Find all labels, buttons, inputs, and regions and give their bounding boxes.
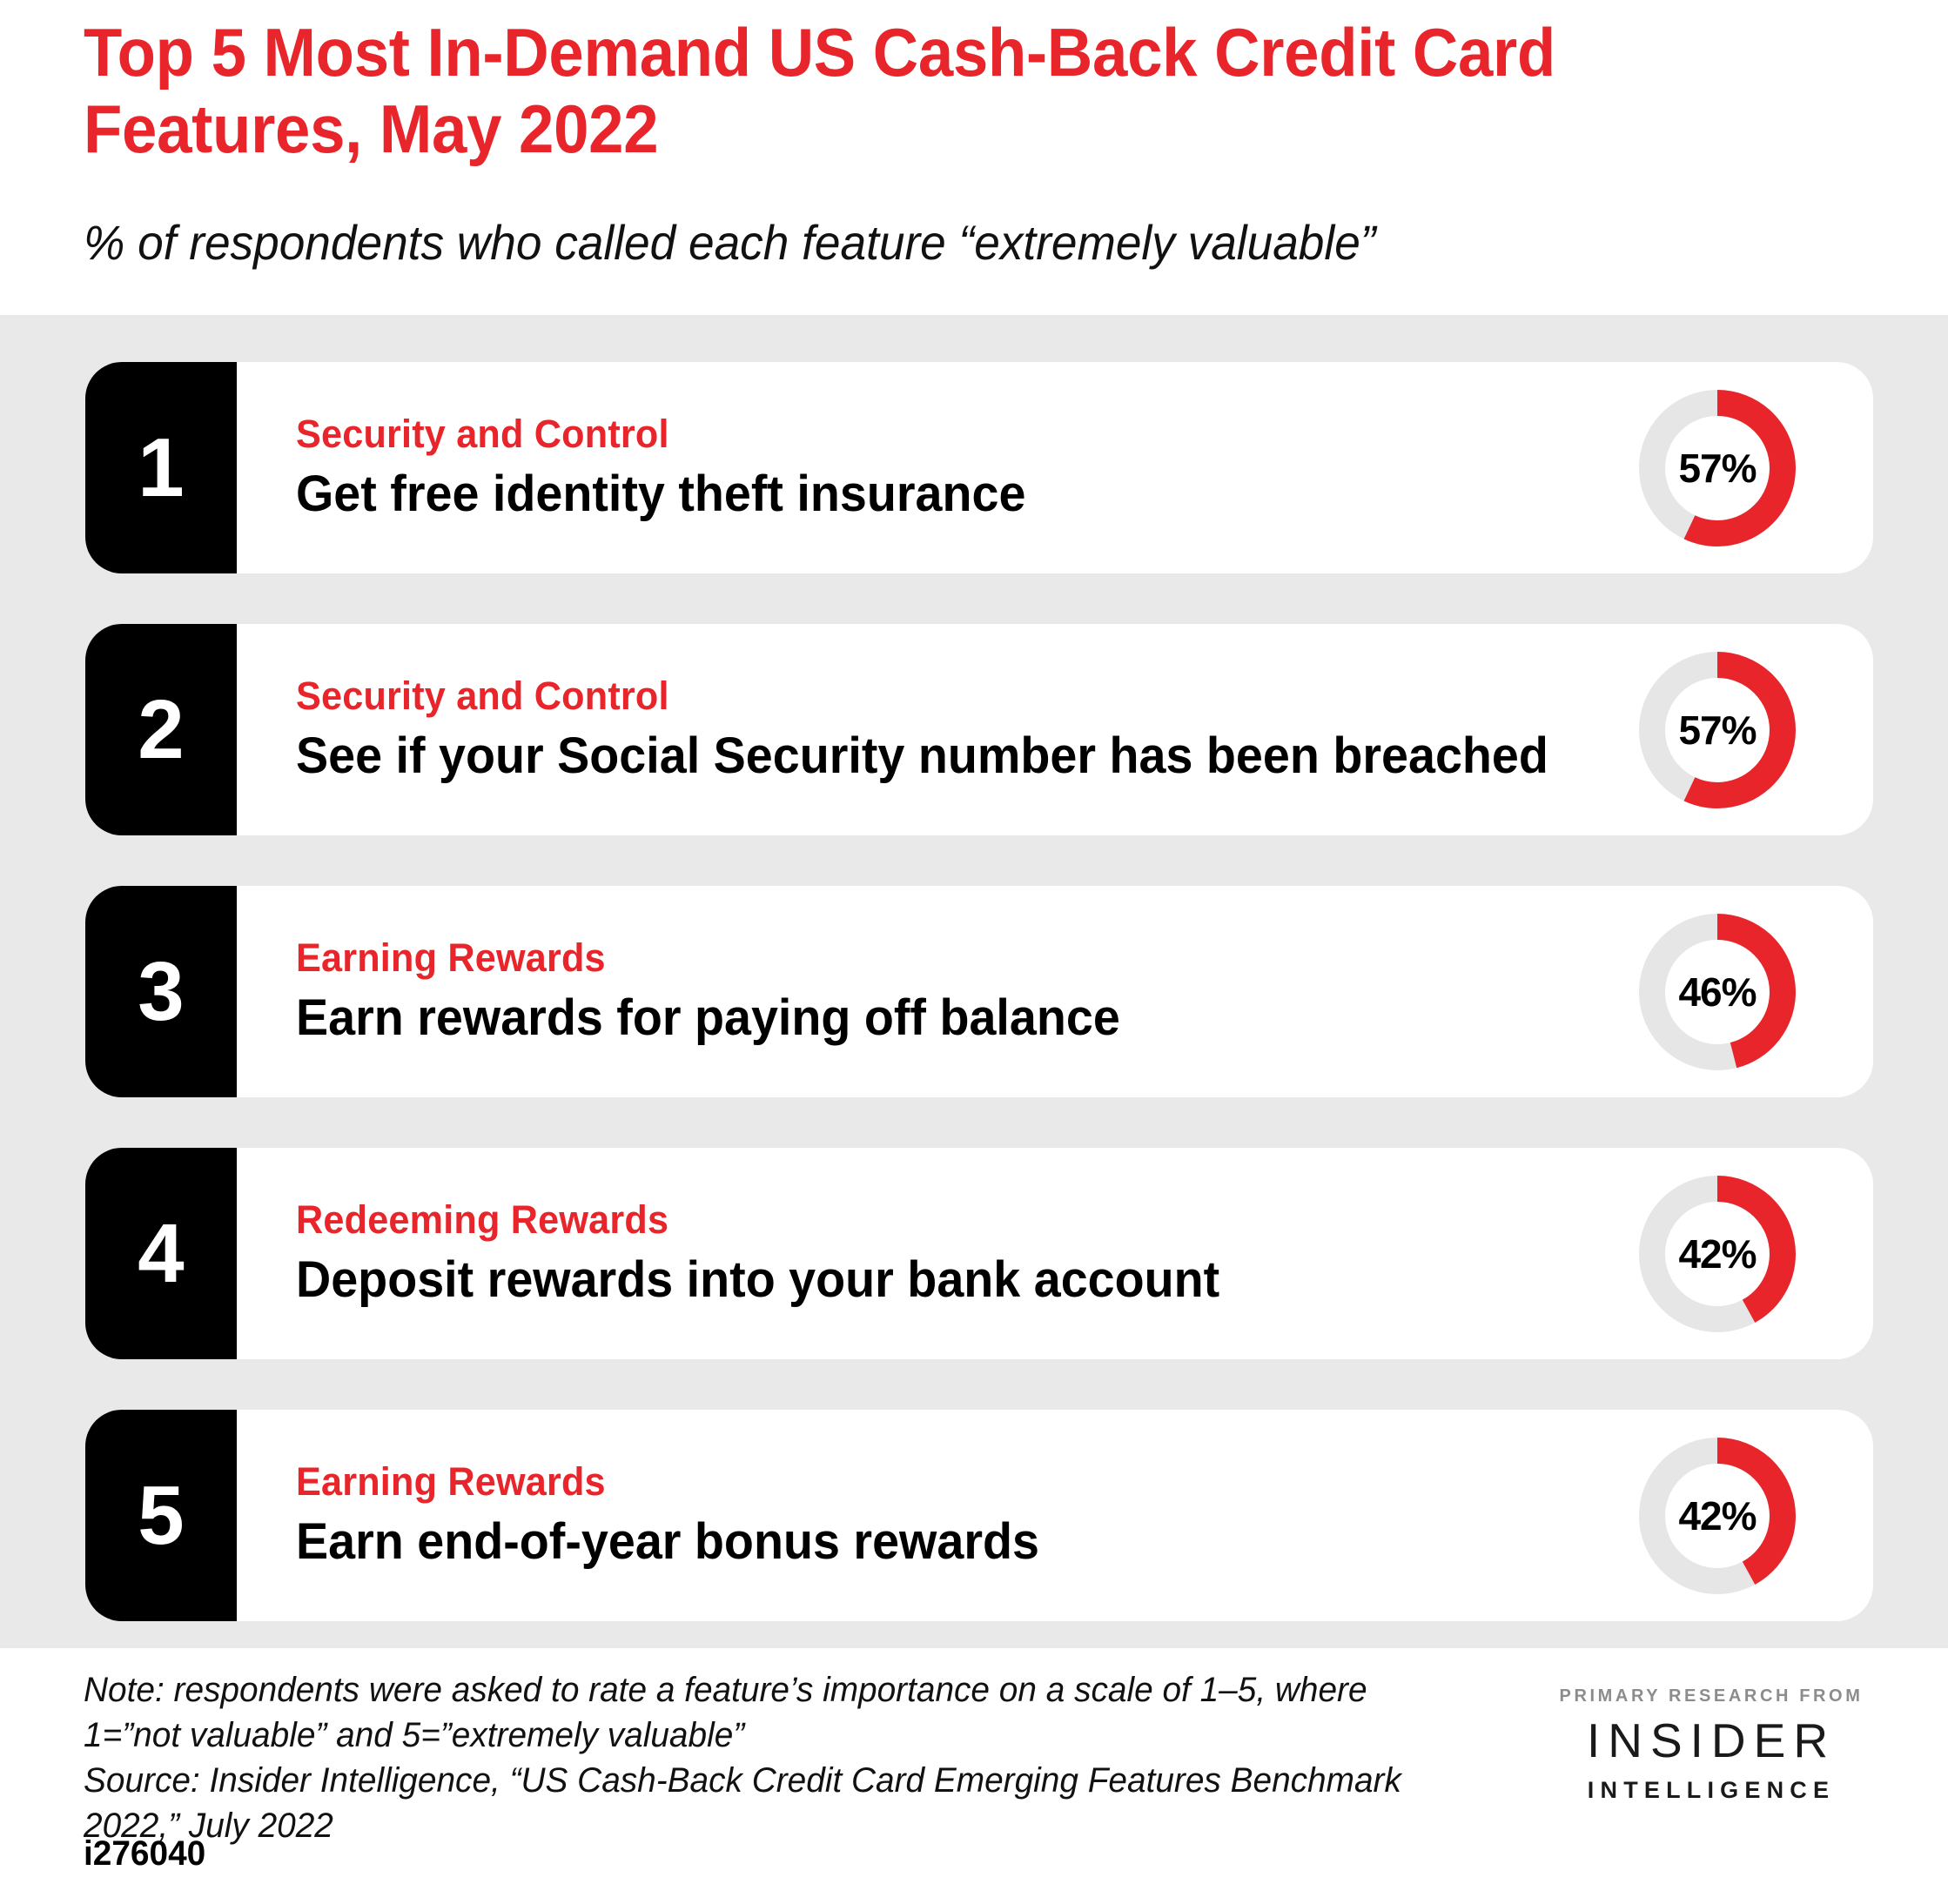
footnote-line: Note: respondents were asked to rate a f… [84, 1667, 1468, 1713]
rank-badge: 3 [85, 886, 237, 1097]
page-subtitle: % of respondents who called each feature… [84, 216, 1787, 270]
footnote-line: 1=”not valuable” and 5=”extremely valuab… [84, 1713, 1468, 1758]
footnote-line: 2022,” July 2022 [84, 1803, 1468, 1848]
rank-number: 1 [138, 426, 184, 510]
donut-chart: 57% [1635, 385, 1800, 551]
donut-chart: 42% [1635, 1171, 1800, 1337]
rank-badge: 5 [85, 1410, 237, 1621]
row-text: Earning RewardsEarn end-of-year bonus re… [296, 1410, 1586, 1621]
rank-number: 4 [138, 1212, 184, 1296]
donut-value-label: 42% [1635, 1171, 1800, 1337]
logo-wordmark-sub: INTELLIGENCE [1528, 1779, 1894, 1802]
ranking-row: 3Earning RewardsEarn rewards for paying … [85, 886, 1873, 1097]
feature-name: See if your Social Security number has b… [296, 726, 1535, 787]
feature-category: Redeeming Rewards [296, 1197, 1535, 1243]
footnote-line: Source: Insider Intelligence, “US Cash-B… [84, 1758, 1468, 1803]
ranking-row: 2Security and ControlSee if your Social … [85, 624, 1873, 835]
donut-value-label: 42% [1635, 1433, 1800, 1599]
feature-category: Earning Rewards [296, 935, 1535, 981]
footer: Note: respondents were asked to rate a f… [0, 1648, 1948, 1904]
feature-category: Security and Control [296, 411, 1535, 457]
footnote-block: Note: respondents were asked to rate a f… [84, 1667, 1468, 1848]
row-text: Security and ControlSee if your Social S… [296, 624, 1586, 835]
logo-kicker: PRIMARY RESEARCH FROM [1528, 1686, 1894, 1706]
donut-value-label: 57% [1635, 385, 1800, 551]
ranking-band: 1Security and ControlGet free identity t… [0, 315, 1948, 1648]
ranking-row: 5Earning RewardsEarn end-of-year bonus r… [85, 1410, 1873, 1621]
feature-name: Deposit rewards into your bank account [296, 1250, 1535, 1311]
figure-id: i276040 [84, 1834, 205, 1874]
rank-badge: 2 [85, 624, 237, 835]
logo-wordmark: INSIDER [1528, 1717, 1894, 1765]
feature-category: Earning Rewards [296, 1458, 1535, 1505]
donut-value-label: 46% [1635, 909, 1800, 1075]
feature-name: Earn rewards for paying off balance [296, 988, 1535, 1049]
feature-name: Get free identity theft insurance [296, 464, 1535, 525]
insider-intelligence-logo: PRIMARY RESEARCH FROM INSIDER INTELLIGEN… [1528, 1686, 1894, 1802]
row-text: Security and ControlGet free identity th… [296, 362, 1586, 573]
rank-badge: 1 [85, 362, 237, 573]
page-title: Top 5 Most In-Demand US Cash-Back Credit… [84, 14, 1743, 167]
donut-chart: 46% [1635, 909, 1800, 1075]
donut-value-label: 57% [1635, 647, 1800, 813]
rank-number: 3 [138, 950, 184, 1034]
donut-chart: 57% [1635, 647, 1800, 813]
ranking-row: 4Redeeming RewardsDeposit rewards into y… [85, 1148, 1873, 1359]
row-text: Redeeming RewardsDeposit rewards into yo… [296, 1148, 1586, 1359]
feature-category: Security and Control [296, 673, 1535, 719]
row-text: Earning RewardsEarn rewards for paying o… [296, 886, 1586, 1097]
header: Top 5 Most In-Demand US Cash-Back Credit… [0, 0, 1948, 315]
infographic-page: Top 5 Most In-Demand US Cash-Back Credit… [0, 0, 1948, 1904]
rank-number: 5 [138, 1474, 184, 1558]
ranking-rows: 1Security and ControlGet free identity t… [0, 315, 1948, 1648]
rank-number: 2 [138, 688, 184, 772]
ranking-row: 1Security and ControlGet free identity t… [85, 362, 1873, 573]
donut-chart: 42% [1635, 1433, 1800, 1599]
rank-badge: 4 [85, 1148, 237, 1359]
feature-name: Earn end-of-year bonus rewards [296, 1512, 1535, 1572]
